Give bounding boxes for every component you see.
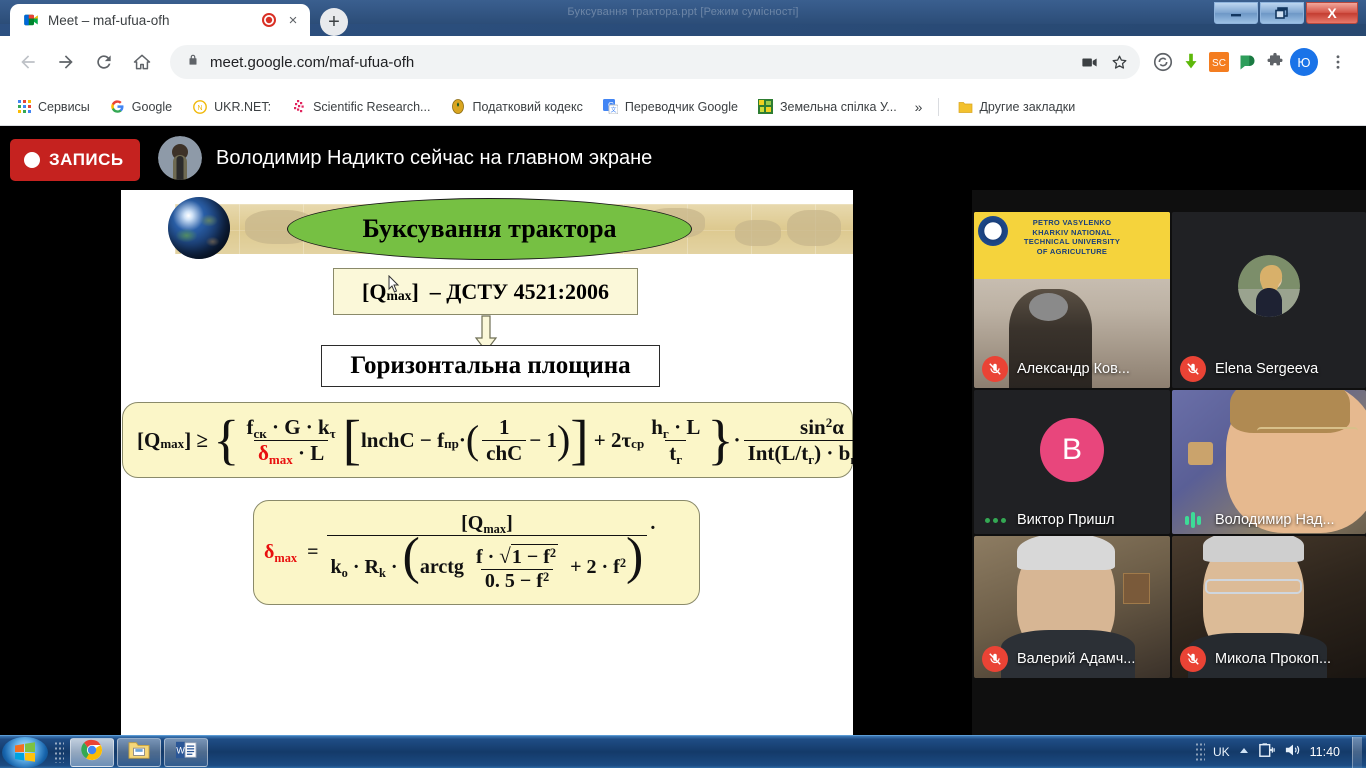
browser-toolbar: meet.google.com/maf-ufua-ofh SC	[0, 36, 1366, 88]
map-shape	[787, 210, 841, 246]
participant-name-row: Микола Прокоп...	[1172, 646, 1366, 672]
lock-icon	[186, 53, 200, 72]
more-options-icon[interactable]	[982, 518, 1008, 523]
tab-strip: Meet – maf-ufua-ofh × +	[0, 0, 1180, 36]
download-icon[interactable]	[1178, 49, 1204, 75]
folder-icon	[957, 99, 973, 115]
camera-icon[interactable]	[1076, 49, 1102, 75]
close-icon[interactable]: ×	[284, 11, 302, 29]
participant-name-row: Володимир Над...	[1172, 512, 1366, 528]
participant-name-row: Валерий Адамч...	[974, 646, 1170, 672]
forward-icon[interactable]	[48, 44, 84, 80]
record-dot-icon	[24, 152, 40, 168]
google-g-icon	[110, 99, 126, 115]
address-bar-url: meet.google.com/maf-ufua-ofh	[210, 54, 414, 71]
bookmarks-overflow-button[interactable]: »	[909, 95, 929, 119]
puzzle-extension-icon[interactable]	[1262, 49, 1288, 75]
bookmark-land-union[interactable]: Земельна спілка У...	[750, 95, 905, 119]
profile-avatar[interactable]: Ю	[1290, 48, 1318, 76]
browser-tab[interactable]: Meet – maf-ufua-ofh ×	[10, 4, 310, 36]
explorer-icon	[128, 740, 150, 765]
back-icon[interactable]	[10, 44, 46, 80]
mic-off-icon	[1180, 646, 1206, 672]
presenting-text: Володимир Надикто сейчас на главном экра…	[216, 146, 652, 171]
formula-box-1: [Qmax] ≥ { fск · G · kτ δmax · L [lnchC …	[122, 402, 853, 478]
tab-title: Meet – maf-ufua-ofh	[48, 13, 254, 28]
participant-name: Микола Прокоп...	[1215, 651, 1331, 667]
ukrnet-icon: N	[192, 99, 208, 115]
chrome-menu-icon[interactable]	[1320, 44, 1356, 80]
home-icon[interactable]	[124, 44, 160, 80]
bookmark-tax-code[interactable]: Податковий кодекс	[442, 95, 590, 119]
taskbar-item-explorer[interactable]	[117, 738, 161, 767]
close-button[interactable]: X	[1306, 2, 1358, 24]
participant-name-row: Александр Ков...	[974, 356, 1170, 382]
participant-tile-kovalenko[interactable]: PETRO VASYLENKOKHARKIV NATIONALTECHNICAL…	[974, 212, 1170, 388]
sc-extension-icon[interactable]: SC	[1206, 49, 1232, 75]
bookmarks-bar: Сервисы Google N UKR.NET:	[0, 88, 1366, 126]
google-translate-icon: G文	[603, 99, 619, 115]
participant-tile-prishl[interactable]: В Виктор Пришл	[974, 390, 1170, 534]
taskbar-grip[interactable]	[54, 741, 64, 763]
svg-text:SC: SC	[1212, 58, 1226, 69]
close-icon: X	[1327, 5, 1336, 21]
clock[interactable]: 11:40	[1310, 745, 1340, 759]
map-shape	[735, 220, 781, 246]
formula-1: [Qmax] ≥ { fск · G · kτ δmax · L [lnchC …	[137, 415, 853, 466]
bookmark-scientific-research[interactable]: Scientific Research...	[283, 95, 438, 119]
volume-icon[interactable]	[1284, 742, 1302, 763]
meet-header: ЗАПИСЬ Володимир Надикто сейчас на главн…	[0, 126, 1366, 190]
show-desktop-button[interactable]	[1352, 737, 1362, 768]
university-seal	[978, 216, 1008, 246]
formula-box-2: δmax = [Qmax] kо · Rk · (arctg f · √1 − …	[253, 500, 700, 605]
participant-tile-sergeeva[interactable]: Elena Sergeeva	[1172, 212, 1366, 388]
taskbar-item-chrome[interactable]	[70, 738, 114, 767]
system-tray: UK 11:40	[1195, 737, 1366, 768]
participant-name-row: Elena Sergeeva	[1172, 356, 1366, 382]
screen: Буксування трактора.ppt [Режим сумісност…	[0, 0, 1366, 768]
participant-name: Володимир Над...	[1215, 512, 1335, 528]
participant-tile-prokopenko[interactable]: Микола Прокоп...	[1172, 536, 1366, 678]
slide-canvas: Буксування трактора [Qmax] – ДСТУ 4521:2…	[121, 190, 853, 735]
tray-grip	[1195, 742, 1205, 762]
other-bookmarks-button[interactable]: Другие закладки	[949, 95, 1083, 119]
icon-frame	[1123, 573, 1150, 604]
scientific-research-icon	[291, 99, 307, 115]
google-meet-icon	[22, 11, 40, 29]
plane-box: Горизонтальна площина	[321, 345, 660, 387]
bookmark-label: Scientific Research...	[313, 100, 430, 114]
maximize-button[interactable]	[1260, 2, 1304, 24]
minimize-button[interactable]	[1214, 2, 1258, 24]
svg-text:文: 文	[611, 106, 617, 114]
participant-name: Александр Ков...	[1017, 361, 1130, 377]
person-head	[1029, 293, 1068, 321]
glasses	[1205, 579, 1302, 595]
land-union-icon	[758, 99, 774, 115]
bookmark-label: Переводчик Google	[625, 100, 738, 114]
picture-frame	[1188, 442, 1213, 465]
avatar: В	[1040, 418, 1104, 482]
svg-text:N: N	[198, 105, 203, 112]
new-tab-button[interactable]: +	[320, 8, 348, 36]
svg-text:W: W	[176, 745, 185, 755]
hair	[1017, 536, 1115, 570]
bookmark-services[interactable]: Сервисы	[8, 95, 98, 119]
mic-off-icon	[1180, 356, 1206, 382]
windows-start-orb[interactable]	[2, 737, 48, 768]
audio-bars-icon	[1180, 512, 1206, 528]
avatar	[1238, 255, 1300, 317]
chrome-window: Буксування трактора.ppt [Режим сумісност…	[0, 0, 1366, 735]
hair	[1203, 536, 1304, 562]
bookmark-label: Сервисы	[38, 100, 90, 114]
window-controls: X	[1214, 2, 1358, 24]
formula-2: δmax = [Qmax] kо · Rk · (arctg f · √1 − …	[264, 512, 655, 593]
reader-extension-icon[interactable]	[1234, 49, 1260, 75]
apps-grid-icon	[16, 99, 32, 115]
tax-code-icon	[450, 99, 466, 115]
bookmark-google-translate[interactable]: G文 Переводчик Google	[595, 95, 746, 119]
bookmark-ukrnet[interactable]: N UKR.NET:	[184, 95, 279, 119]
language-indicator[interactable]: UK	[1213, 745, 1230, 759]
participant-name: Elena Sergeeva	[1215, 361, 1318, 377]
address-bar[interactable]: meet.google.com/maf-ufua-ofh	[170, 45, 1140, 79]
mic-off-icon	[982, 356, 1008, 382]
participant-name: Виктор Пришл	[1017, 512, 1115, 528]
participant-grid: PETRO VASYLENKOKHARKIV NATIONALTECHNICAL…	[972, 190, 1366, 735]
reload-icon[interactable]	[86, 44, 122, 80]
divider	[938, 98, 939, 116]
star-icon[interactable]	[1106, 49, 1132, 75]
slide-title: Буксування трактора	[287, 198, 692, 260]
bookmark-google[interactable]: Google	[102, 95, 180, 119]
word-icon: W	[175, 740, 197, 765]
mic-off-icon	[982, 646, 1008, 672]
glasses	[1257, 427, 1358, 440]
show-hidden-icons-button[interactable]	[1238, 743, 1250, 761]
record-dot-icon[interactable]	[262, 13, 276, 27]
bookmark-label: Земельна спілка У...	[780, 100, 897, 114]
participant-name: Валерий Адамч...	[1017, 651, 1135, 667]
mouse-pointer	[388, 275, 400, 293]
presenter-avatar	[158, 136, 202, 180]
chrome-icon	[81, 739, 103, 766]
google-meet-app: ЗАПИСЬ Володимир Надикто сейчас на главн…	[0, 126, 1366, 735]
participant-name-row: Виктор Пришл	[974, 512, 1170, 528]
participant-tile-adamchuk[interactable]: Валерий Адамч...	[974, 536, 1170, 678]
presenting-banner: Володимир Надикто сейчас на главном экра…	[158, 128, 668, 188]
battery-plug-icon[interactable]	[1258, 742, 1276, 763]
avatar-letter: В	[1062, 433, 1082, 467]
bookmark-label: UKR.NET:	[214, 100, 271, 114]
bookmark-label: Податковий кодекс	[472, 100, 582, 114]
other-bookmarks-label: Другие закладки	[979, 100, 1075, 114]
presentation-stage[interactable]: Буксування трактора [Qmax] – ДСТУ 4521:2…	[0, 190, 972, 735]
bookmark-label: Google	[132, 100, 172, 114]
participant-tile-nadykto[interactable]: Володимир Над...	[1172, 390, 1366, 534]
plane-text: Горизонтальна площина	[350, 352, 630, 380]
slide-title-text: Буксування трактора	[362, 214, 616, 244]
sync-icon[interactable]	[1150, 49, 1176, 75]
windows-taskbar: W UK	[0, 735, 1366, 768]
recording-badge[interactable]: ЗАПИСЬ	[10, 139, 140, 181]
recording-label: ЗАПИСЬ	[49, 150, 124, 170]
dstu-box: [Qmax] – ДСТУ 4521:2006	[333, 268, 638, 315]
taskbar-item-word[interactable]: W	[164, 738, 208, 767]
globe-icon	[143, 192, 217, 260]
